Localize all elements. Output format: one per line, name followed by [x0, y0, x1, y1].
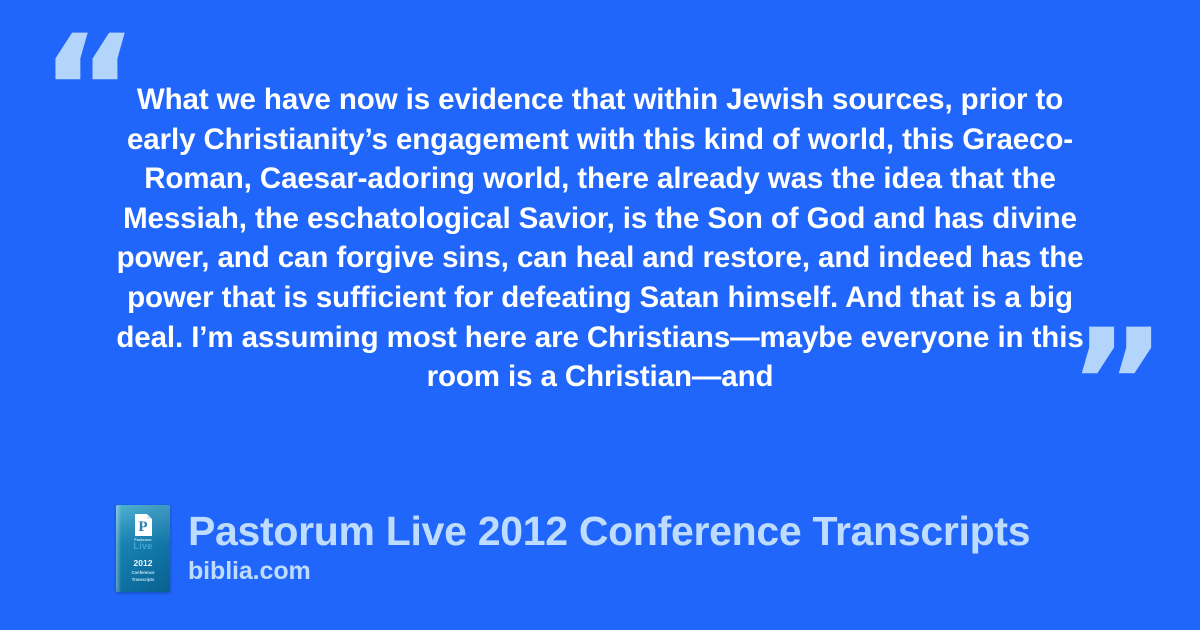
source-title: Pastorum Live 2012 Conference Transcript…: [188, 508, 1030, 554]
closing-quote-icon: ”: [1068, 310, 1167, 460]
book-cover-thumbnail: P Pastorum Live 2012 Conference Transcri…: [116, 505, 170, 592]
pastorum-page-logo-icon: P: [134, 514, 153, 537]
attribution-footer: P Pastorum Live 2012 Conference Transcri…: [116, 505, 1030, 592]
quote-block: What we have now is evidence that within…: [112, 80, 1088, 397]
footer-text-group: Pastorum Live 2012 Conference Transcript…: [188, 505, 1030, 585]
quote-text: What we have now is evidence that within…: [112, 80, 1088, 397]
book-cover-year: 2012: [134, 559, 153, 568]
source-website: biblia.com: [188, 557, 1030, 585]
book-cover-subtitle-line2: Transcripts: [132, 577, 155, 583]
svg-text:P: P: [138, 519, 147, 535]
book-cover-live: Live: [133, 542, 152, 551]
quote-card: “ What we have now is evidence that with…: [0, 0, 1200, 630]
book-cover-inner: P Pastorum Live 2012 Conference Transcri…: [116, 505, 170, 592]
